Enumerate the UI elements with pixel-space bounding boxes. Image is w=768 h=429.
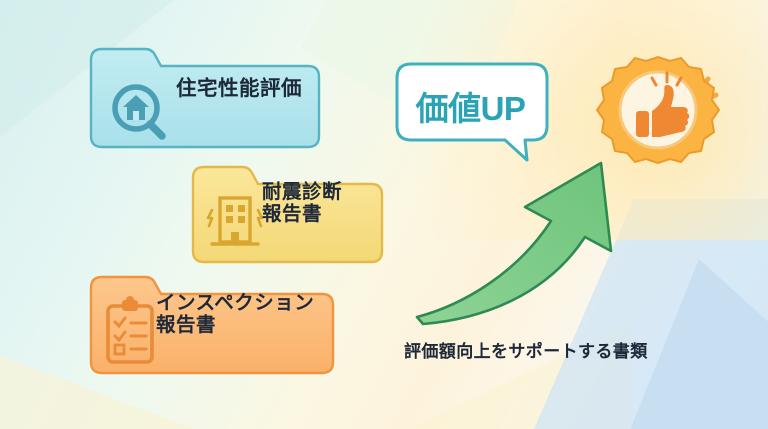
folder-card-seismic-diagnosis-report[interactable]: 耐震診断 報告書: [190, 162, 385, 265]
value-up-bubble: 価値UP: [393, 60, 555, 158]
folder-card-inspection-report[interactable]: インスペクション 報告書: [88, 272, 336, 376]
caption-text: 評価額向上をサポートする書類: [404, 337, 704, 362]
folder-label: インスペクション 報告書: [156, 292, 314, 336]
quality-seal-badge: [588, 55, 728, 183]
folder-label: 住宅性能評価: [176, 77, 302, 100]
folder-label: 耐震診断 報告書: [262, 181, 342, 225]
folder-card-housing-performance-evaluation[interactable]: 住宅性能評価: [88, 44, 322, 150]
bubble-text: 価値UP: [393, 82, 548, 130]
infographic-canvas: 住宅性能評価 耐震診断 報告書: [0, 0, 768, 429]
